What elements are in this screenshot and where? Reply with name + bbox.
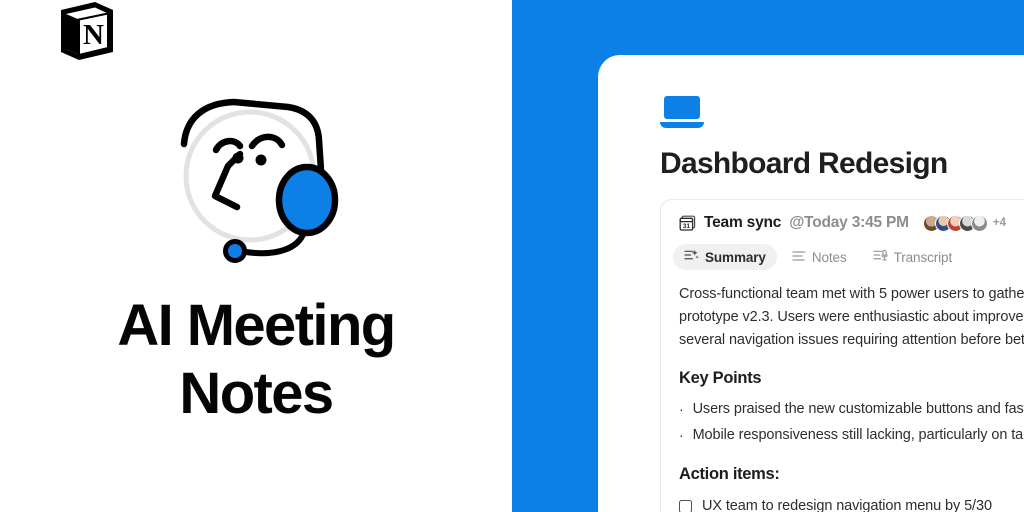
document-title: Dashboard Redesign [660, 145, 1024, 183]
meeting-summary-card: 31 Team sync @Today 3:45 PM +4 [660, 199, 1024, 512]
list-item: · Users praised the new customizable but… [679, 396, 1024, 422]
tab-transcript-label: Transcript [894, 250, 953, 265]
action-item-text: UX team to redesign navigation menu by 5… [702, 494, 992, 512]
microphone-lines-icon [873, 249, 888, 265]
left-hero-panel: N [0, 0, 512, 512]
tab-notes[interactable]: Notes [781, 245, 858, 270]
key-point-text: Users praised the new customizable butto… [693, 396, 1024, 422]
key-points-heading: Key Points [679, 366, 1024, 390]
svg-text:31: 31 [683, 223, 691, 230]
tab-transcript[interactable]: Transcript [862, 244, 964, 270]
promo-screenshot: N [0, 0, 1024, 512]
laptop-icon[interactable] [660, 95, 704, 129]
action-item-row[interactable]: UX team to redesign navigation menu by 5… [679, 494, 1024, 512]
notion-logo: N [55, 0, 119, 62]
meeting-name: Team sync [704, 214, 781, 232]
meeting-header-row[interactable]: 31 Team sync @Today 3:45 PM +4 [679, 214, 1024, 232]
key-point-text: Mobile responsiveness still lacking, par… [693, 422, 1024, 448]
page-title-line-2: Notes [0, 360, 512, 428]
tab-summary[interactable]: Summary [673, 244, 777, 270]
attendee-avatars[interactable]: +4 [923, 215, 1006, 232]
summary-paragraph: Cross-functional team met with 5 power u… [679, 283, 1024, 352]
avatar-overflow-count: +4 [993, 217, 1006, 229]
calendar-31-icon: 31 [679, 215, 696, 232]
action-items-heading: Action items: [679, 462, 1024, 486]
bullet-dot-icon: · [679, 422, 684, 448]
summary-tabs: Summary Notes [673, 244, 1024, 270]
page-title-line-1: AI Meeting [0, 292, 512, 360]
list-item: · Mobile responsiveness still lacking, p… [679, 422, 1024, 448]
meeting-time: @Today 3:45 PM [789, 214, 909, 232]
svg-text:N: N [83, 19, 104, 51]
lines-icon [792, 250, 806, 265]
tab-notes-label: Notes [812, 250, 847, 265]
checkbox-icon[interactable] [679, 500, 692, 512]
key-points-list: · Users praised the new customizable but… [679, 396, 1024, 448]
page-title: AI Meeting Notes [0, 292, 512, 428]
document-card: Dashboard Redesign 31 Team sync @Today [598, 55, 1024, 512]
document-content: Dashboard Redesign 31 Team sync @Today [660, 95, 1024, 512]
face-with-headset-illustration [168, 88, 350, 270]
tab-summary-label: Summary [705, 250, 766, 265]
bullet-dot-icon: · [679, 396, 684, 422]
summary-sparkle-icon [684, 249, 699, 265]
avatar [971, 215, 988, 232]
